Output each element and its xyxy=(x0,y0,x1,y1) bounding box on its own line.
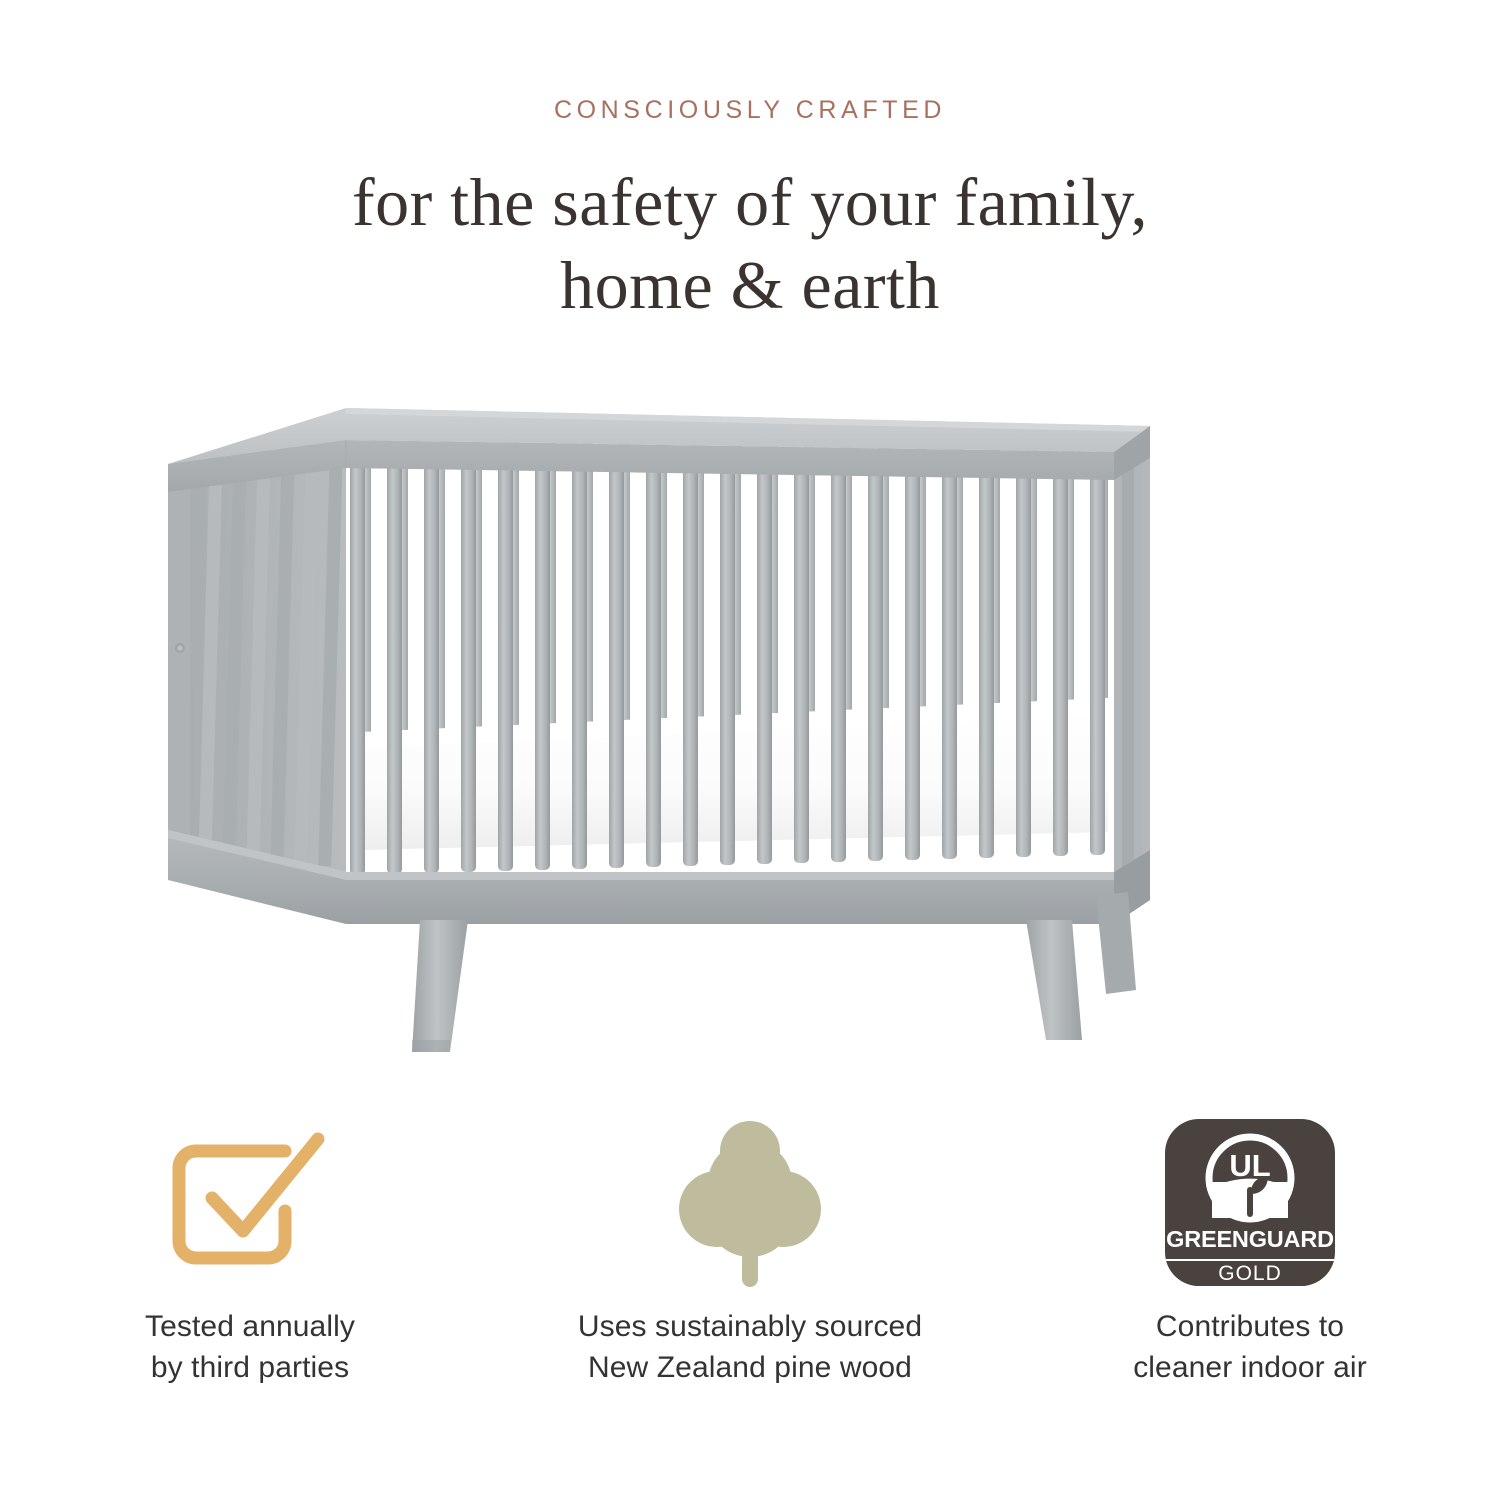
header: CONSCIOUSLY CRAFTED for the safety of yo… xyxy=(0,0,1500,327)
headline-line-1: for the safety of your family, xyxy=(0,161,1500,244)
greenguard-gold-badge-icon: UL GREENGUARD GOLD xyxy=(1165,1110,1335,1295)
crib-front-slats xyxy=(350,430,1105,875)
crib-right-end-panel xyxy=(1114,440,1154,882)
feature-caption-line-2: by third parties xyxy=(145,1348,355,1389)
greenguard-badge: UL GREENGUARD GOLD xyxy=(1165,1119,1335,1286)
feature-tested-annually: Tested annually by third parties xyxy=(0,1110,500,1389)
feature-caption-line-2: cleaner indoor air xyxy=(1133,1348,1367,1389)
crib-illustration xyxy=(150,380,1350,1080)
features-row: Tested annually by third parties Uses su… xyxy=(0,1110,1500,1389)
ul-mark-icon: UL xyxy=(1204,1132,1296,1224)
badge-gold-strip: GOLD xyxy=(1165,1261,1335,1287)
page-title: for the safety of your family, home & ea… xyxy=(0,161,1500,327)
feature-caption: Contributes to cleaner indoor air xyxy=(1133,1307,1367,1389)
feature-caption: Tested annually by third parties xyxy=(145,1307,355,1389)
tree-icon xyxy=(665,1110,835,1295)
feature-caption-line-2: New Zealand pine wood xyxy=(578,1348,922,1389)
feature-caption-line-1: Uses sustainably sourced xyxy=(578,1307,922,1348)
greenguard-level: GOLD xyxy=(1218,1263,1282,1284)
feature-sustainable-wood: Uses sustainably sourced New Zealand pin… xyxy=(500,1110,1000,1389)
feature-caption-line-1: Contributes to xyxy=(1133,1307,1367,1348)
feature-caption-line-1: Tested annually xyxy=(145,1307,355,1348)
headline-line-2: home & earth xyxy=(0,244,1500,327)
feature-clean-air: UL GREENGUARD GOLD Contributes to cleane… xyxy=(1000,1110,1500,1389)
checkbox-check-icon xyxy=(150,1110,350,1295)
eyebrow-text: CONSCIOUSLY CRAFTED xyxy=(0,98,1500,123)
feature-caption: Uses sustainably sourced New Zealand pin… xyxy=(578,1307,922,1389)
product-image xyxy=(0,380,1500,1100)
greenguard-name: GREENGUARD xyxy=(1166,1228,1334,1252)
